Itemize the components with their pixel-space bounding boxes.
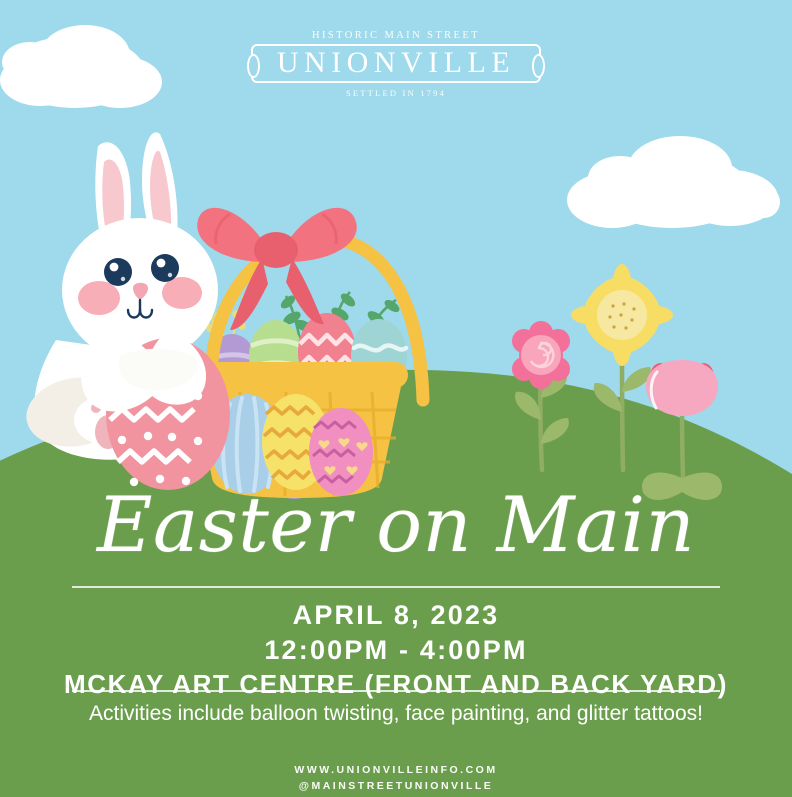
- event-activities: Activities include balloon twisting, fac…: [64, 700, 728, 728]
- divider-bottom: [72, 690, 720, 692]
- bunny-cheek-left: [78, 281, 120, 315]
- event-venue: MCKAY ART CENTRE (FRONT AND BACK YARD): [0, 668, 792, 702]
- divider-top: [72, 586, 720, 588]
- footer-website[interactable]: WWW.UNIONVILLEINFO.COM: [0, 762, 792, 778]
- bunny-cheek-right: [162, 277, 202, 309]
- event-time: 12:00PM - 4:00PM: [0, 633, 792, 668]
- footer-contact: WWW.UNIONVILLEINFO.COM @MAINSTREETUNIONV…: [0, 762, 792, 795]
- page-title: Easter on Main: [0, 487, 792, 563]
- easter-on-main-poster: HISTORIC MAIN STREET UNIONVILLE SETTLED …: [0, 0, 792, 797]
- footer-social-handle[interactable]: @MAINSTREETUNIONVILLE: [0, 778, 792, 794]
- event-details: APRIL 8, 2023 12:00PM - 4:00PM MCKAY ART…: [0, 598, 792, 702]
- event-date: APRIL 8, 2023: [0, 598, 792, 633]
